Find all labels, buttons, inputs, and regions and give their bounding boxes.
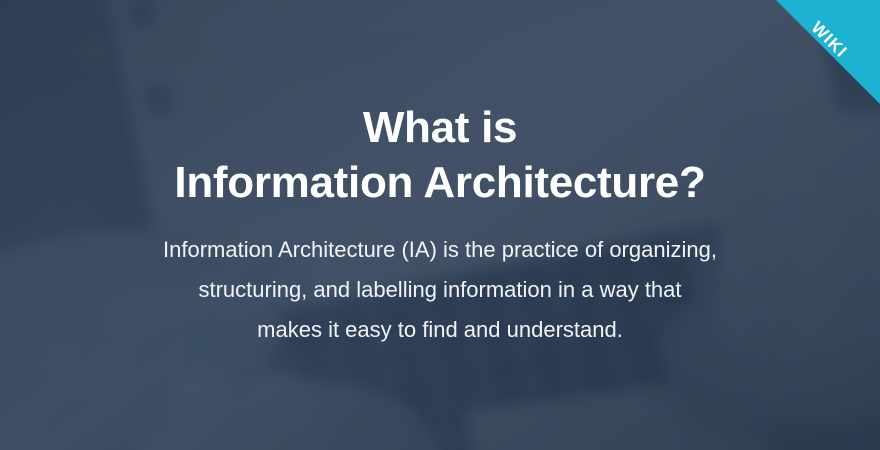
- wiki-info-card: What is Information Architecture? Inform…: [0, 0, 880, 450]
- page-description: Information Architecture (IA) is the pra…: [143, 230, 737, 350]
- wiki-corner-ribbon[interactable]: WIKI: [776, 0, 880, 104]
- description-line-3: makes it easy to find and understand.: [163, 310, 717, 350]
- title-line-2: Information Architecture?: [174, 155, 705, 210]
- text-layer: What is Information Architecture? Inform…: [0, 0, 880, 450]
- description-line-2: structuring, and labelling information i…: [163, 270, 717, 310]
- description-line-1: Information Architecture (IA) is the pra…: [163, 230, 717, 270]
- title-line-1: What is: [363, 103, 517, 152]
- page-title: What is Information Architecture?: [150, 100, 729, 211]
